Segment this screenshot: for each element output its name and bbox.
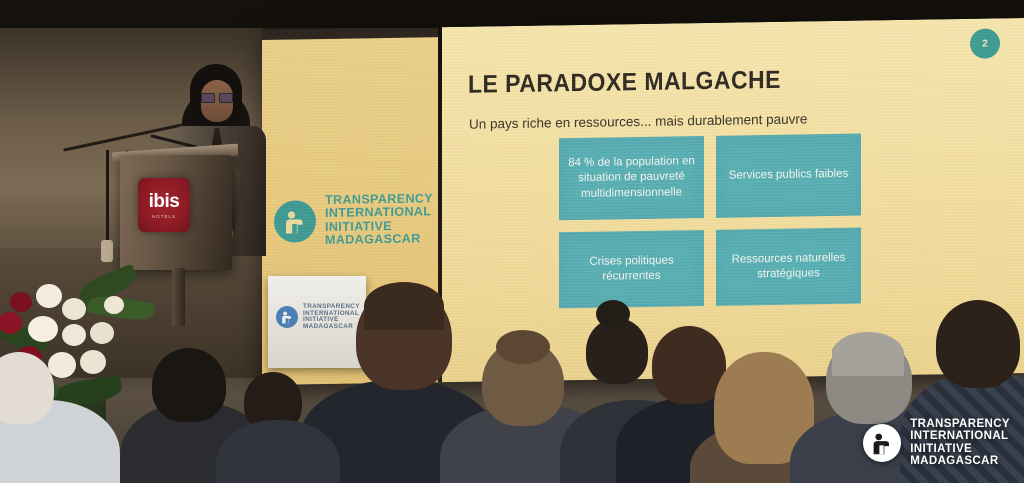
slide-box-poverty: 84 % de la population en situation de pa… [559,136,704,220]
screenshot-root: TRANSPARENCY INTERNATIONAL INITIATIVE MA… [0,0,1024,483]
slide-box-natural-resources: Ressources naturelles stratégiques [716,228,861,306]
slide-box-row-2: Crises politiques récurrentes Ressources… [559,227,891,308]
speaker-glasses [201,93,233,101]
slide-logo-line1: TRANSPARENCY [325,192,433,207]
slide-logo-line4: MADAGASCAR [325,232,433,247]
transparency-international-person-icon [863,424,901,462]
slide-number-badge: 2 [970,28,1000,58]
banner-logo-line4: MADAGASCAR [303,324,360,331]
slide-ti-logo: TRANSPARENCY INTERNATIONAL INITIATIVE MA… [274,192,433,247]
watermark-line4: MADAGASCAR [910,455,1010,467]
slide-title: LE PARADOXE MALGACHE [468,66,781,100]
slide-box-political-crises: Crises politiques récurrentes [559,230,704,308]
slide-footer-logo: trans [832,342,877,362]
transparency-international-person-icon [832,343,851,362]
slide-box-row-1: 84 % de la population en situation de pa… [559,133,891,220]
ti-floor-banner: TRANSPARENCY INTERNATIONAL INITIATIVE MA… [268,276,366,368]
transparency-international-person-icon [274,200,316,243]
ibis-brand-subtext: HOTELS [152,214,176,219]
watermark-line3: INITIATIVE [910,443,1010,455]
slide-logo-line3: INITIATIVE [325,219,433,234]
slide-logo-line2: INTERNATIONAL [325,206,433,221]
slide-main-panel: 2 LE PARADOXE MALGACHE Un pays riche en … [442,18,1024,385]
ibis-hotel-logo: ibis HOTELS [138,178,190,232]
slide-footer-text: trans [857,347,877,357]
microphone-stand-clip [101,240,113,262]
slide-box-public-services: Services publics faibles [716,134,861,218]
flower-arrangement [0,268,172,438]
ibis-brand-text: ibis [149,192,180,211]
watermark-line1: TRANSPARENCY [910,418,1010,430]
podium-leg [172,268,185,326]
projection-screen: TRANSPARENCY INTERNATIONAL INITIATIVE MA… [262,18,1024,385]
watermark-logo: TRANSPARENCY INTERNATIONAL INITIATIVE MA… [863,418,1010,467]
watermark-line2: INTERNATIONAL [910,430,1010,442]
transparency-international-person-icon [276,306,298,328]
slide-box-grid: 84 % de la population en situation de pa… [559,133,891,320]
slide-subtitle: Un pays riche en ressources... mais dura… [469,111,807,131]
